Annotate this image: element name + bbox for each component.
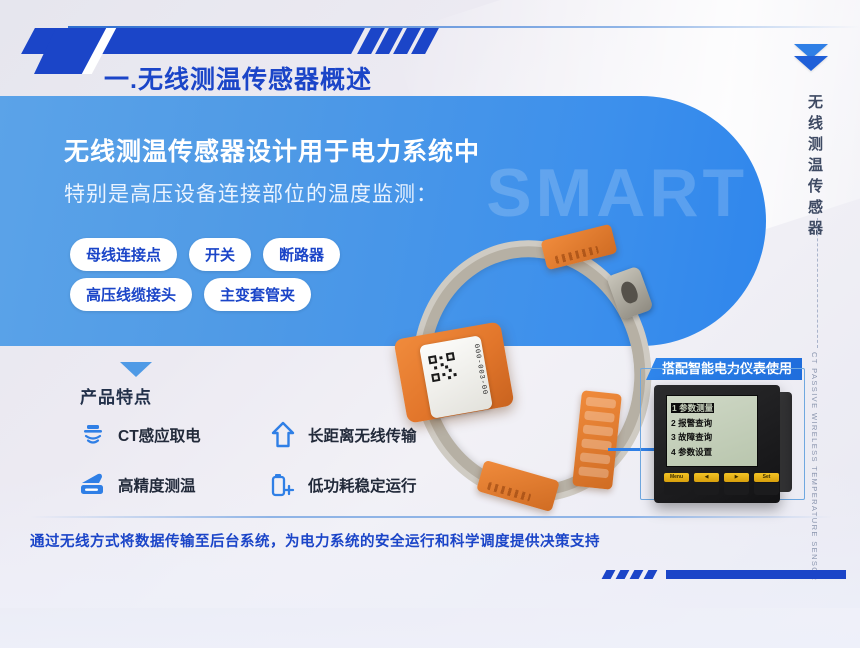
application-tag[interactable]: 母线连接点 — [70, 238, 177, 271]
application-tag[interactable]: 开关 — [189, 238, 251, 271]
meter-button-cap-label: ▶ — [724, 473, 749, 482]
footer-text: 通过无线方式将数据传输至后台系统，为电力系统的安全运行和科学调度提供决策支持 — [30, 530, 600, 551]
meter-button-base — [724, 483, 749, 495]
application-tag[interactable]: 断路器 — [263, 238, 340, 271]
section-header: 一.无线测温传感器概述 — [0, 26, 520, 88]
features-title: 产品特点 — [80, 383, 152, 408]
meter-button-right[interactable]: ▶ — [724, 473, 749, 495]
sensor-label: 000-003-00 — [419, 335, 493, 419]
ct-induction-icon — [78, 420, 108, 450]
features-row: 高精度测温 低功耗稳定运行 — [78, 470, 458, 500]
poster-canvas: 一.无线测温传感器概述 SMART 无线测温传感器设计用于电力系统中 特别是高压… — [0, 0, 860, 608]
meter-menu-item-text-2: 2 报警查询 — [671, 418, 712, 428]
chevron-down-icon-2 — [794, 56, 828, 71]
footer-divider — [30, 516, 832, 518]
qr-code-icon — [428, 352, 458, 382]
temperature-scanner-icon — [78, 470, 108, 500]
smart-watermark: SMART — [486, 154, 748, 232]
meter-button-left[interactable]: ◀ — [694, 473, 719, 495]
power-meter-device: 1 参数测量 2 报警查询 3 故障查询 4 参数设置 Menu ◀ — [654, 385, 780, 503]
sidebar-divider — [817, 218, 818, 348]
sidebar-title-en: CT PASSIVE WIRELESS TEMPERATURE SENSOR — [810, 352, 819, 581]
meter-menu-item-text-4: 4 参数设置 — [671, 447, 712, 457]
meter-button-menu[interactable]: Menu — [664, 473, 689, 495]
up-arrow-icon — [268, 420, 298, 450]
sensor-clip-ridged — [572, 390, 622, 490]
meter-menu-item-text-3: 3 故障查询 — [671, 432, 712, 442]
application-tag[interactable]: 高压线缆接头 — [70, 278, 192, 311]
meter-button-cap-label: ◀ — [694, 473, 719, 482]
application-tag-row-2: 高压线缆接头 主变套管夹 — [70, 278, 311, 311]
meter-menu-item[interactable]: 3 故障查询 — [671, 430, 753, 445]
feature-label: CT感应取电 — [118, 424, 201, 446]
sidebar-chevrons — [794, 44, 828, 68]
application-tag-row-1: 母线连接点 开关 断路器 — [70, 238, 340, 271]
features-arrow-icon — [120, 362, 152, 377]
panel-title: 无线测温传感器设计用于电力系统中 — [64, 132, 480, 168]
feature-label: 高精度测温 — [118, 474, 196, 496]
battery-plus-icon — [268, 470, 298, 500]
meter-button-base — [664, 483, 689, 495]
meter-screen: 1 参数测量 2 报警查询 3 故障查询 4 参数设置 — [666, 395, 758, 467]
sidebar-title-cn: 无线测温传感器 — [804, 94, 825, 241]
meter-menu-item[interactable]: 1 参数测量 — [671, 401, 753, 416]
meter-menu-item[interactable]: 4 参数设置 — [671, 445, 753, 460]
features-row: CT感应取电 长距离无线传输 — [78, 420, 458, 450]
feature-item: 低功耗稳定运行 — [268, 470, 458, 500]
features-grid: CT感应取电 长距离无线传输 — [78, 420, 458, 520]
meter-button-cap-label: Menu — [664, 473, 689, 482]
meter-button-row: Menu ◀ ▶ Set — [664, 473, 779, 495]
feature-label: 低功耗稳定运行 — [308, 474, 417, 496]
application-tag[interactable]: 主变套管夹 — [204, 278, 311, 311]
meter-menu-item-text-1: 1 参数测量 — [671, 403, 714, 413]
feature-item: CT感应取电 — [78, 420, 268, 450]
meter-button-base — [694, 483, 719, 495]
feature-label: 长距离无线传输 — [308, 424, 417, 446]
footer-bar-shape — [666, 570, 846, 579]
feature-item: 长距离无线传输 — [268, 420, 458, 450]
panel-subtitle: 特别是高压设备连接部位的温度监测： — [64, 178, 438, 208]
meter-menu-list: 1 参数测量 2 报警查询 3 故障查询 4 参数设置 — [667, 396, 757, 464]
feature-item: 高精度测温 — [78, 470, 268, 500]
meter-menu-item[interactable]: 2 报警查询 — [671, 416, 753, 431]
page-title: 一.无线测温传感器概述 — [104, 60, 372, 96]
